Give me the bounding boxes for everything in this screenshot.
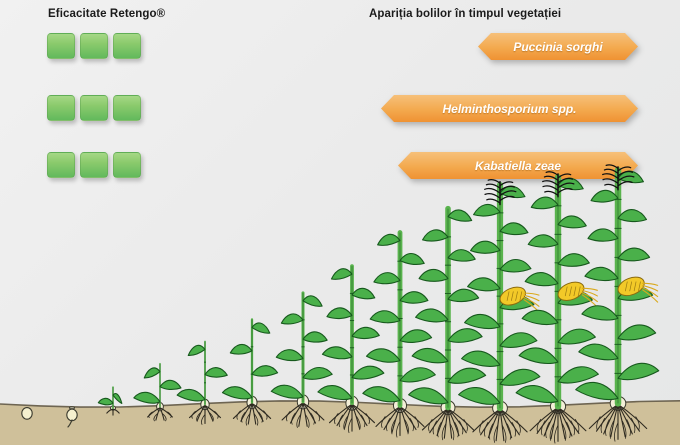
leaf	[500, 369, 540, 385]
tassel-branch	[606, 165, 618, 169]
leaf	[618, 210, 646, 222]
leaf	[519, 348, 558, 364]
leaf	[522, 310, 558, 324]
leaf	[465, 314, 500, 328]
leaf	[400, 368, 435, 382]
leaf	[367, 349, 400, 362]
leaf	[419, 269, 448, 281]
leaf	[177, 389, 205, 400]
tassel-branch	[546, 172, 558, 176]
leaf	[400, 292, 428, 303]
leaf	[378, 234, 400, 245]
leaf	[558, 329, 595, 344]
leaf	[374, 273, 400, 284]
leaf	[591, 190, 618, 202]
leaf	[352, 288, 375, 298]
leaf	[462, 351, 500, 366]
infographic-canvas: Eficacitate Retengo® Apariția bolilor în…	[0, 0, 680, 445]
leaf	[558, 367, 598, 383]
leaf	[276, 350, 303, 361]
leaf	[448, 329, 482, 343]
leaf	[516, 386, 558, 403]
tassel-branch	[488, 180, 500, 184]
leaf	[500, 223, 528, 235]
leaf	[471, 241, 500, 253]
leaf	[409, 388, 448, 404]
cob-silk	[643, 283, 658, 285]
leaf	[582, 306, 618, 320]
leaf	[134, 392, 160, 403]
leaf	[412, 348, 448, 362]
leaf	[558, 216, 586, 228]
leaf	[303, 332, 327, 342]
leaf	[468, 278, 500, 291]
leaf	[448, 289, 479, 301]
leaf	[352, 327, 379, 338]
leaf	[222, 387, 252, 399]
leaf	[585, 267, 618, 280]
leaf	[370, 311, 400, 323]
leaf	[205, 368, 227, 378]
leaf	[318, 386, 352, 400]
leaf	[303, 296, 322, 306]
leaf	[500, 260, 531, 272]
leaf	[252, 366, 278, 376]
leaf	[400, 254, 424, 265]
leaf	[558, 254, 589, 267]
leaf	[281, 314, 303, 324]
leaf	[252, 323, 270, 333]
leaf	[400, 330, 432, 343]
leaf	[327, 308, 352, 319]
leaf	[322, 347, 352, 359]
leaf	[618, 325, 656, 340]
plant-stage-13	[576, 165, 659, 441]
leaf	[576, 382, 618, 399]
leaf	[579, 344, 618, 360]
leaf	[144, 368, 160, 378]
crop-growth-scene	[0, 0, 680, 445]
leaf	[331, 269, 352, 280]
leaf	[531, 197, 558, 209]
leaf	[525, 273, 558, 286]
leaf	[416, 309, 448, 322]
leaf	[113, 393, 122, 403]
leaf	[363, 387, 400, 402]
leaf	[448, 368, 486, 383]
cob-silk	[582, 288, 597, 290]
leaf	[303, 367, 332, 379]
leaf	[474, 204, 500, 216]
leaf	[423, 230, 448, 241]
leaf	[618, 248, 650, 261]
leaf	[618, 363, 659, 379]
leaf	[459, 388, 500, 405]
leaf	[448, 210, 472, 221]
leaf	[500, 333, 537, 348]
seed	[22, 408, 32, 420]
leaf	[230, 344, 252, 354]
leaf	[528, 235, 558, 247]
leaf	[352, 366, 384, 379]
cob-silk	[524, 293, 539, 295]
plant-stage-1	[22, 408, 32, 420]
leaf	[271, 385, 303, 398]
leaf	[98, 398, 113, 405]
leaf	[188, 345, 205, 355]
leaf	[160, 380, 181, 389]
leaf	[588, 229, 618, 241]
seed	[67, 409, 77, 421]
